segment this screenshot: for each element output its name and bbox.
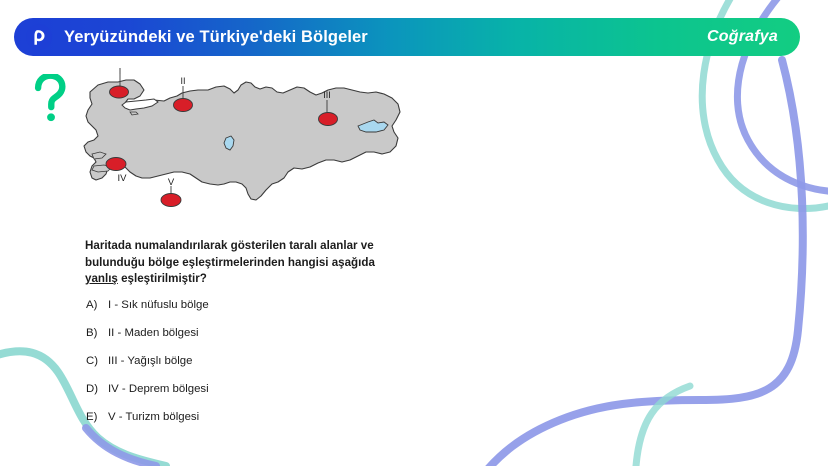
- slide-root: Yeryüzündeki ve Türkiye'deki Bölgeler Co…: [0, 0, 828, 466]
- question-line-3-rest: eşleştirilmiştir?: [118, 272, 207, 285]
- option-d[interactable]: D) IV - Deprem bölgesi: [86, 383, 486, 411]
- marker-dot-III: [319, 113, 338, 126]
- turkiye-map-svg: I II III IV V: [78, 68, 408, 228]
- marker-label-I: I: [119, 68, 122, 76]
- marker-label-V: V: [168, 177, 175, 188]
- turkiye-map: I II III IV V: [78, 68, 408, 228]
- option-e[interactable]: E) V - Turizm bölgesi: [86, 411, 486, 439]
- option-b[interactable]: B) II - Maden bölgesi: [86, 327, 486, 355]
- option-d-text: IV - Deprem bölgesi: [108, 383, 209, 395]
- decor-curve-teal-bottomright: [636, 386, 690, 466]
- question-text: Haritada numalandırılarak gösterilen tar…: [85, 238, 485, 288]
- header-title: Yeryüzündeki ve Türkiye'deki Bölgeler: [64, 28, 368, 47]
- question-line-1: Haritada numalandırılarak gösterilen tar…: [85, 238, 485, 255]
- option-a-text: I - Sık nüfuslu bölge: [108, 299, 209, 311]
- map-marker-IV: IV: [106, 158, 127, 185]
- question-mark-icon: [33, 74, 67, 124]
- p-logo-icon: [26, 24, 52, 50]
- option-c-letter: C): [86, 355, 108, 367]
- marker-label-II: II: [180, 76, 185, 86]
- header-bar: Yeryüzündeki ve Türkiye'deki Bölgeler Co…: [14, 18, 800, 56]
- subject-label: Coğrafya: [707, 28, 778, 46]
- option-e-letter: E): [86, 411, 108, 423]
- option-d-letter: D): [86, 383, 108, 395]
- option-a-letter: A): [86, 299, 108, 311]
- marker-label-IV: IV: [118, 173, 128, 184]
- option-a[interactable]: A) I - Sık nüfuslu bölge: [86, 299, 486, 327]
- question-emphasis: yanlış: [85, 272, 118, 285]
- option-b-text: II - Maden bölgesi: [108, 327, 199, 339]
- marker-dot-V: [161, 194, 181, 207]
- map-marker-V: V: [161, 177, 181, 207]
- question-line-2: bulunduğu bölge eşleştirmelerinden hangi…: [85, 255, 485, 272]
- marker-dot-II: [174, 99, 193, 112]
- option-b-letter: B): [86, 327, 108, 339]
- option-e-text: V - Turizm bölgesi: [108, 411, 199, 423]
- options-list: A) I - Sık nüfuslu bölge B) II - Maden b…: [86, 299, 486, 439]
- marker-dot-IV: [106, 158, 126, 171]
- marker-label-III: III: [323, 90, 331, 100]
- option-c-text: III - Yağışlı bölge: [108, 355, 192, 367]
- turkiye-landmass: [84, 80, 400, 200]
- decor-curve-purple-right: [482, 60, 803, 466]
- option-c[interactable]: C) III - Yağışlı bölge: [86, 355, 486, 383]
- question-line-3: yanlış eşleştirilmiştir?: [85, 271, 485, 288]
- marker-dot-I: [110, 86, 129, 98]
